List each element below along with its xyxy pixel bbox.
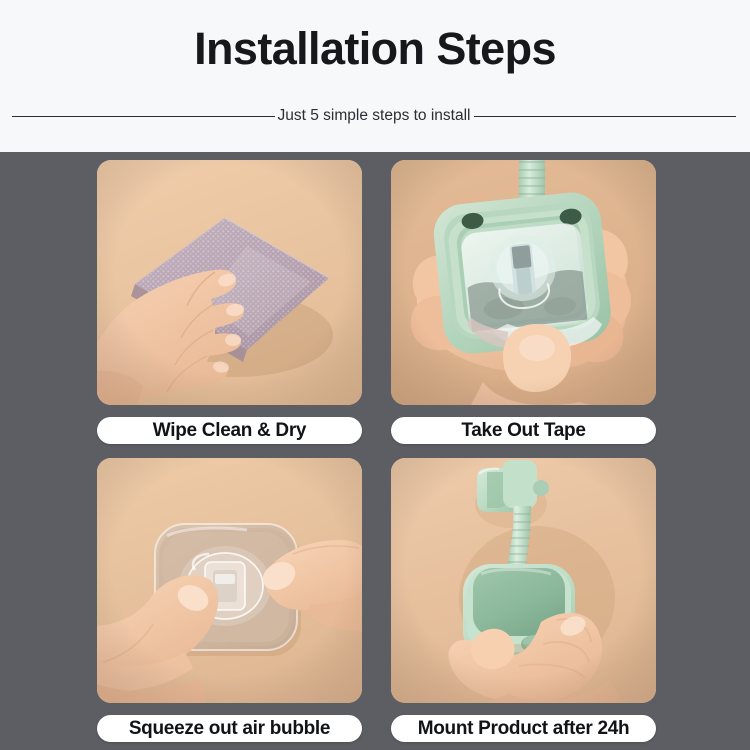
step-card-squeeze-air-bubble[interactable]: Squeeze out air bubble [97,458,362,742]
step-photo-wipe-clean [97,160,362,405]
step-photo-mount-product [391,458,656,703]
installation-steps-page: Installation Steps Just 5 simple steps t… [0,0,750,750]
step-photo-take-out-tape [391,160,656,405]
step-caption-mount-product: Mount Product after 24h [391,715,656,742]
steps-grid: Wipe Clean & Dry [97,160,656,742]
step-card-wipe-clean[interactable]: Wipe Clean & Dry [97,160,362,444]
step-photo-squeeze-air-bubble [97,458,362,703]
step-caption-label: Take Out Tape [461,420,585,442]
subtitle-row: Just 5 simple steps to install [12,104,736,128]
step-caption-label: Squeeze out air bubble [129,718,330,740]
steps-row-1: Wipe Clean & Dry [97,160,656,444]
page-subtitle: Just 5 simple steps to install [275,107,474,125]
step-card-take-out-tape[interactable]: Take Out Tape [391,160,656,444]
step-caption-wipe-clean: Wipe Clean & Dry [97,417,362,444]
step-caption-label: Wipe Clean & Dry [153,420,306,442]
step-caption-take-out-tape: Take Out Tape [391,417,656,444]
divider-left [12,116,275,117]
steps-row-2: Squeeze out air bubble [97,458,656,742]
page-title: Installation Steps [0,21,750,77]
step-caption-squeeze-air-bubble: Squeeze out air bubble [97,715,362,742]
step-card-mount-product[interactable]: Mount Product after 24h [391,458,656,742]
step-caption-label: Mount Product after 24h [418,718,630,740]
page-header: Installation Steps Just 5 simple steps t… [0,0,750,152]
divider-right [474,116,737,117]
